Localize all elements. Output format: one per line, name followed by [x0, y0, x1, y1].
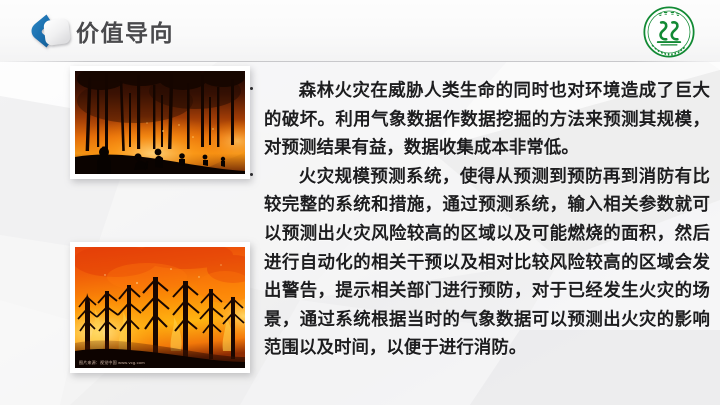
paragraph-1-text: 森林火灾在威胁人类生命的同时也对环境造成了巨大的破坏。利用气象数据作数据挖掘的方…: [264, 80, 710, 157]
slide-header: 价值导向: [0, 0, 720, 62]
china-three-gorges-university-seal-icon: [641, 4, 697, 60]
chevron-diamond-logo-icon: [26, 9, 74, 53]
forest-fire-firefighters-photo[interactable]: [70, 66, 250, 179]
forest-fire-blaze-photo[interactable]: 图片来源：视觉中国 www.vcg.com: [70, 242, 250, 373]
photo-image-area: 图片来源：视觉中国 www.vcg.com: [75, 247, 245, 368]
bullet-dot-icon: [250, 87, 253, 90]
paragraph-1: 森林火灾在威胁人类生命的同时也对环境造成了巨大的破坏。利用气象数据作数据挖掘的方…: [264, 76, 710, 162]
header-divider: [0, 61, 720, 62]
content-text-block: 森林火灾在威胁人类生命的同时也对环境造成了巨大的破坏。利用气象数据作数据挖掘的方…: [264, 76, 710, 362]
photo-watermark: 图片来源：视觉中国 www.vcg.com: [79, 360, 145, 366]
bullet-dot-icon: [250, 173, 253, 176]
page-title: 价值导向: [76, 14, 174, 48]
presentation-slide: 价值导向: [0, 0, 720, 405]
photo-image-area: [75, 71, 245, 174]
paragraph-2: 火灾规模预测系统，使得从预测到预防再到消防有比较完整的系统和措施，通过预测系统，…: [264, 162, 710, 362]
paragraph-2-text: 火灾规模预测系统，使得从预测到预防再到消防有比较完整的系统和措施，通过预测系统，…: [264, 166, 710, 358]
